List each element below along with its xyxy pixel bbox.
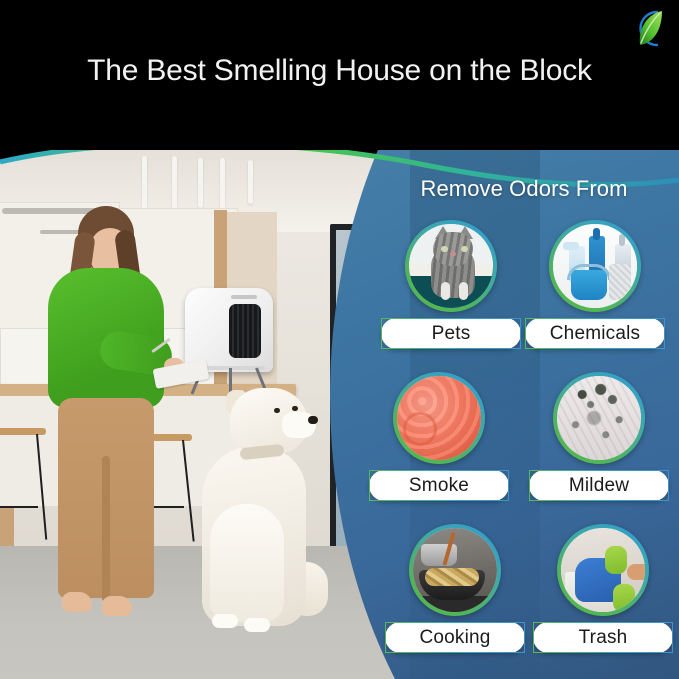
odor-label: Smoke: [409, 475, 469, 497]
odor-icon-ring: [405, 220, 497, 312]
mildew-texture-icon: [557, 376, 641, 460]
header-bar: The Best Smelling House on the Block: [0, 0, 679, 150]
odor-card-chemicals[interactable]: Chemicals: [525, 220, 665, 349]
odor-label: Cooking: [419, 627, 490, 649]
product-feature-image: Remove Odors From: [0, 0, 679, 679]
cat-in-litter-box-icon: [409, 224, 493, 308]
odor-label: Pets: [432, 323, 471, 345]
odor-card-smoke[interactable]: Smoke: [369, 372, 509, 501]
remove-odors-section: Remove Odors From: [383, 176, 679, 656]
leaf-in-circle-logo: [627, 5, 669, 51]
page-title: The Best Smelling House on the Block: [0, 54, 679, 88]
odor-card-cooking[interactable]: Cooking: [385, 524, 525, 653]
forearm: [627, 564, 645, 580]
odor-row: Cooking: [383, 524, 679, 666]
odor-label: Chemicals: [550, 323, 641, 345]
spray-bottle-nozzle: [593, 228, 600, 240]
cleaning-supplies-icon: [553, 224, 637, 308]
rubber-glove: [613, 584, 635, 612]
odor-row: Smoke Mildew: [383, 372, 679, 514]
odor-icon-ring: [393, 372, 485, 464]
odor-label-pill: Trash: [533, 622, 673, 653]
odor-icon-ring: [409, 524, 501, 616]
soap-pump: [619, 234, 625, 246]
odor-icon-ring: [557, 524, 649, 616]
odor-card-pets[interactable]: Pets: [381, 220, 521, 349]
odor-label-pill: Mildew: [529, 470, 669, 501]
odor-label-pill: Cooking: [385, 622, 525, 653]
cooking-pot: [421, 544, 457, 566]
odor-label-pill: Chemicals: [525, 318, 665, 349]
odor-icon-ring: [549, 220, 641, 312]
spray-bottle-trigger: [563, 242, 579, 250]
bucket-handle: [567, 264, 611, 280]
odor-label: Mildew: [569, 475, 629, 497]
odor-card-trash[interactable]: Trash: [533, 524, 673, 653]
food-in-pan: [425, 568, 479, 586]
frying-pan-icon: [413, 528, 497, 612]
rubber-glove: [605, 546, 627, 574]
odor-label: Trash: [579, 627, 628, 649]
odor-label-pill: Smoke: [369, 470, 509, 501]
section-title: Remove Odors From: [383, 176, 665, 202]
cleaning-cloth: [609, 264, 631, 300]
trash-bag-icon: [561, 528, 645, 612]
odor-label-pill: Pets: [381, 318, 521, 349]
odor-card-mildew[interactable]: Mildew: [529, 372, 669, 501]
odor-icon-ring: [553, 372, 645, 464]
odor-row: Pets: [383, 220, 679, 362]
smoke-texture-icon: [397, 376, 481, 460]
